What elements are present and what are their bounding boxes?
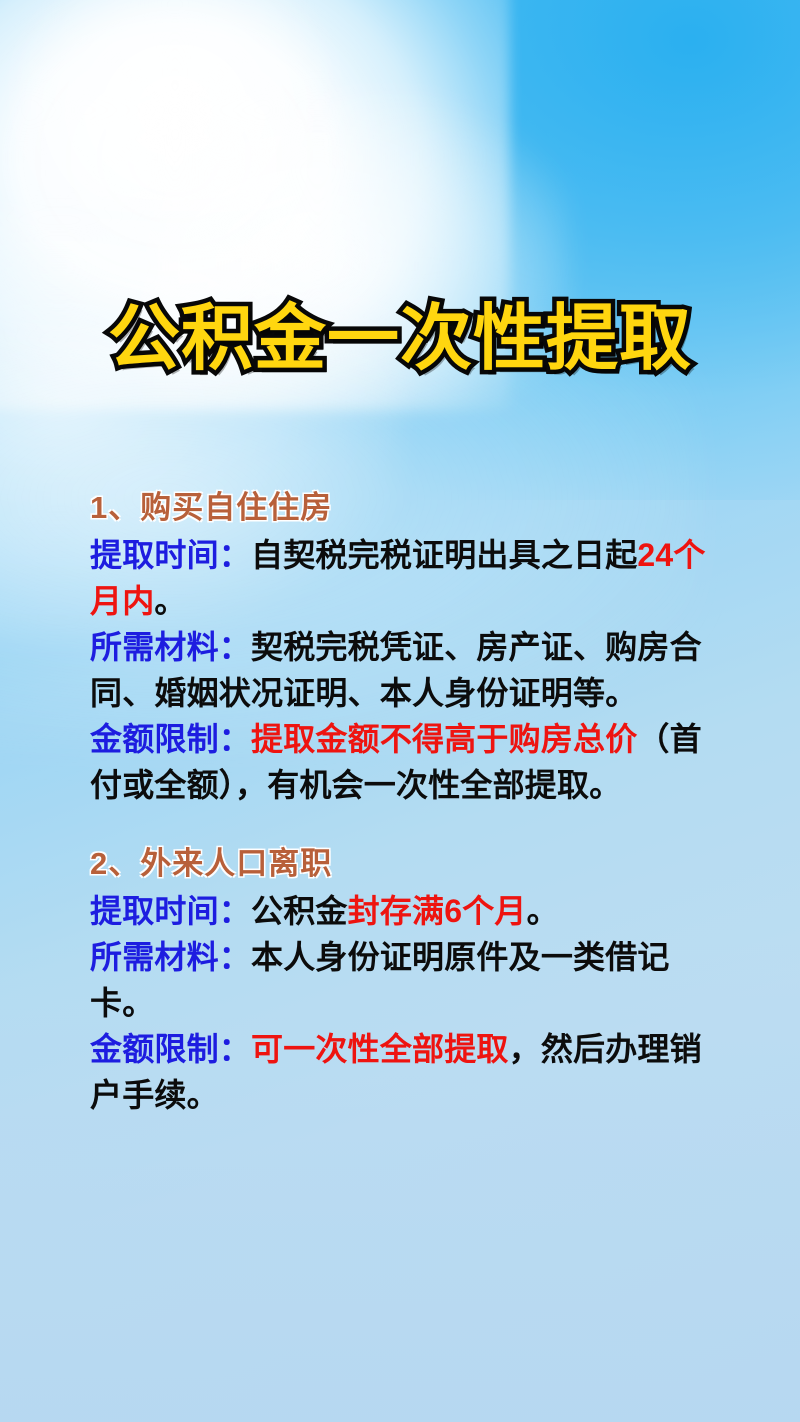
detail-row-emphasis: 可一次性全部提取 (251, 1031, 509, 1067)
detail-row-text: 自契税完税证明出具之日起 (251, 537, 637, 573)
detail-row-label: 金额限制： (90, 721, 251, 757)
section: 2、外来人口离职提取时间：公积金封存满6个月。所需材料：本人身份证明原件及一类借… (90, 842, 710, 1118)
section: 1、购买自住住房提取时间：自契税完税证明出具之日起24个月内。所需材料：契税完税… (90, 486, 710, 808)
detail-row-emphasis: 提取金额不得高于购房总价 (251, 721, 637, 757)
detail-row-text: 。 (154, 583, 186, 619)
detail-row-label: 金额限制： (90, 1031, 251, 1067)
detail-row-text: 。 (527, 893, 559, 929)
section-heading: 1、购买自住住房 (90, 486, 710, 530)
poster-content: 公积金一次性提取 1、购买自住住房提取时间：自契税完税证明出具之日起24个月内。… (0, 0, 800, 1422)
detail-row: 金额限制：可一次性全部提取，然后办理销户手续。 (90, 1026, 710, 1118)
detail-row-emphasis: 封存满6个月 (348, 893, 527, 929)
detail-row: 所需材料：契税完税凭证、房产证、购房合同、婚姻状况证明、本人身份证明等。 (90, 624, 710, 716)
detail-row-label: 所需材料： (90, 629, 251, 665)
detail-row: 提取时间：自契税完税证明出具之日起24个月内。 (90, 532, 710, 624)
detail-row-label: 提取时间： (90, 893, 251, 929)
detail-row: 所需材料：本人身份证明原件及一类借记卡。 (90, 934, 710, 1026)
poster-canvas: 公积金一次性提取 1、购买自住住房提取时间：自契税完税证明出具之日起24个月内。… (0, 0, 800, 1422)
detail-row: 提取时间：公积金封存满6个月。 (90, 888, 710, 934)
detail-row-text: 公积金 (251, 893, 348, 929)
sections-list: 1、购买自住住房提取时间：自契税完税证明出具之日起24个月内。所需材料：契税完税… (90, 486, 710, 1152)
page-title: 公积金一次性提取 (0, 296, 800, 382)
detail-row: 金额限制：提取金额不得高于购房总价（首付或全额），有机会一次性全部提取。 (90, 716, 710, 808)
detail-row-label: 提取时间： (90, 537, 251, 573)
section-heading: 2、外来人口离职 (90, 842, 710, 886)
detail-row-label: 所需材料： (90, 939, 251, 975)
